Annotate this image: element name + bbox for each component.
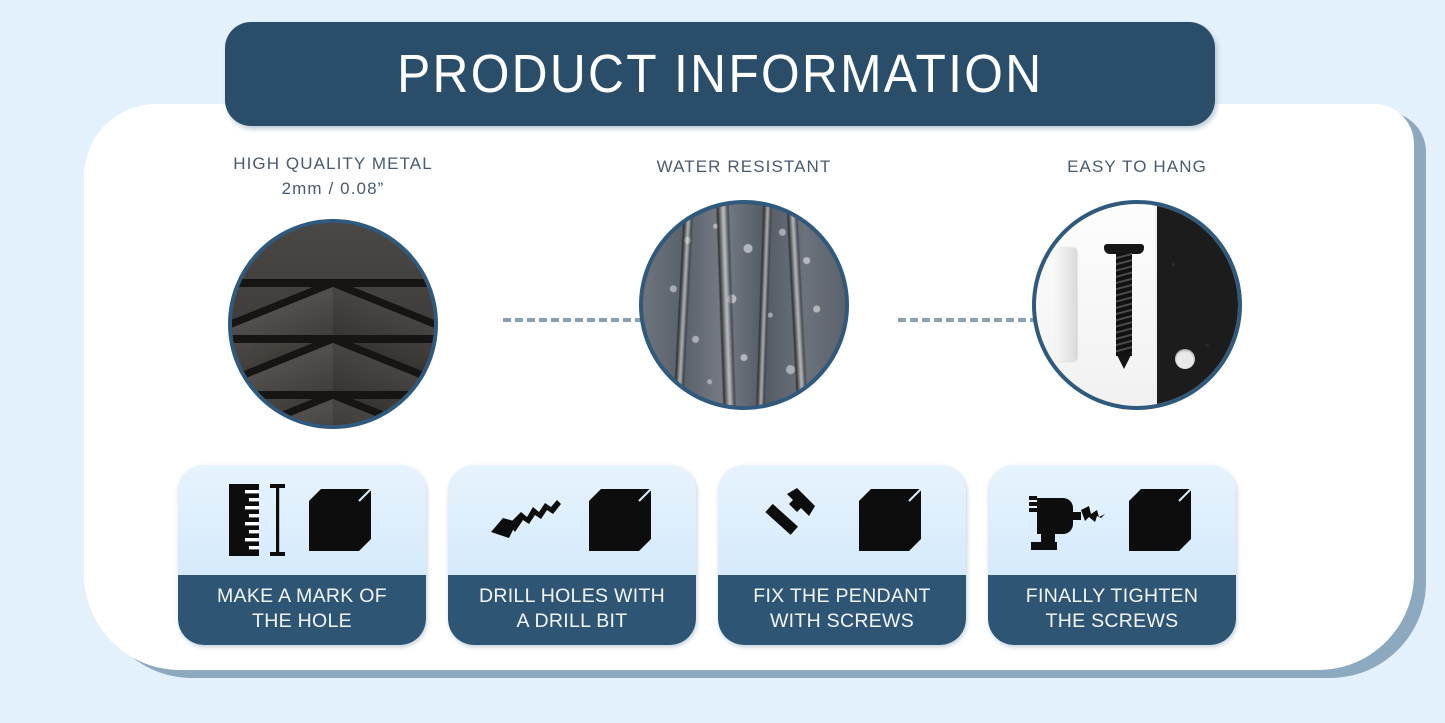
step-icons [448, 465, 696, 575]
step-caption: FIX THE PENDANT WITH SCREWS [718, 575, 966, 645]
panel-box-icon [303, 483, 377, 557]
power-drill-icon [1027, 484, 1111, 556]
step-caption: MAKE A MARK OF THE HOLE [178, 575, 426, 645]
hammer-icon [757, 484, 841, 556]
installation-steps-row: MAKE A MARK OF THE HOLE DRILL HOLES WITH… [178, 465, 1278, 645]
feature-label: EASY TO HANG [972, 152, 1302, 180]
feature-high-quality-metal: HIGH QUALITY METAL 2mm / 0.08” [168, 152, 498, 429]
stacked-metal-sheets-photo [228, 219, 438, 429]
step-card-make-a-mark[interactable]: MAKE A MARK OF THE HOLE [178, 465, 426, 645]
header-banner: PRODUCT INFORMATION [225, 22, 1215, 126]
step-caption: FINALLY TIGHTEN THE SCREWS [988, 575, 1236, 645]
features-row: HIGH QUALITY METAL 2mm / 0.08” WATER RES… [120, 152, 1390, 442]
step-card-fix-pendant[interactable]: FIX THE PENDANT WITH SCREWS [718, 465, 966, 645]
feature-easy-to-hang: EASY TO HANG [972, 152, 1302, 410]
water-droplets-on-metal-photo [639, 200, 849, 410]
step-card-drill-holes[interactable]: DRILL HOLES WITH A DRILL BIT [448, 465, 696, 645]
step-icons [178, 465, 426, 575]
step-card-tighten-screws[interactable]: FINALLY TIGHTEN THE SCREWS [988, 465, 1236, 645]
panel-box-icon [853, 483, 927, 557]
feature-label: WATER RESISTANT [579, 152, 909, 180]
step-icons [988, 465, 1236, 575]
step-caption: DRILL HOLES WITH A DRILL BIT [448, 575, 696, 645]
panel-box-icon [1123, 483, 1197, 557]
panel-box-icon [583, 483, 657, 557]
screw-and-wall-anchor-photo [1032, 200, 1242, 410]
feature-water-resistant: WATER RESISTANT [579, 152, 909, 410]
step-icons [718, 465, 966, 575]
ruler-icon [227, 481, 291, 559]
page-title: PRODUCT INFORMATION [397, 43, 1043, 105]
product-information-infographic: PRODUCT INFORMATION HIGH QUALITY METAL 2… [0, 0, 1445, 723]
drill-bit-icon [487, 484, 571, 556]
feature-label: HIGH QUALITY METAL 2mm / 0.08” [168, 152, 498, 201]
